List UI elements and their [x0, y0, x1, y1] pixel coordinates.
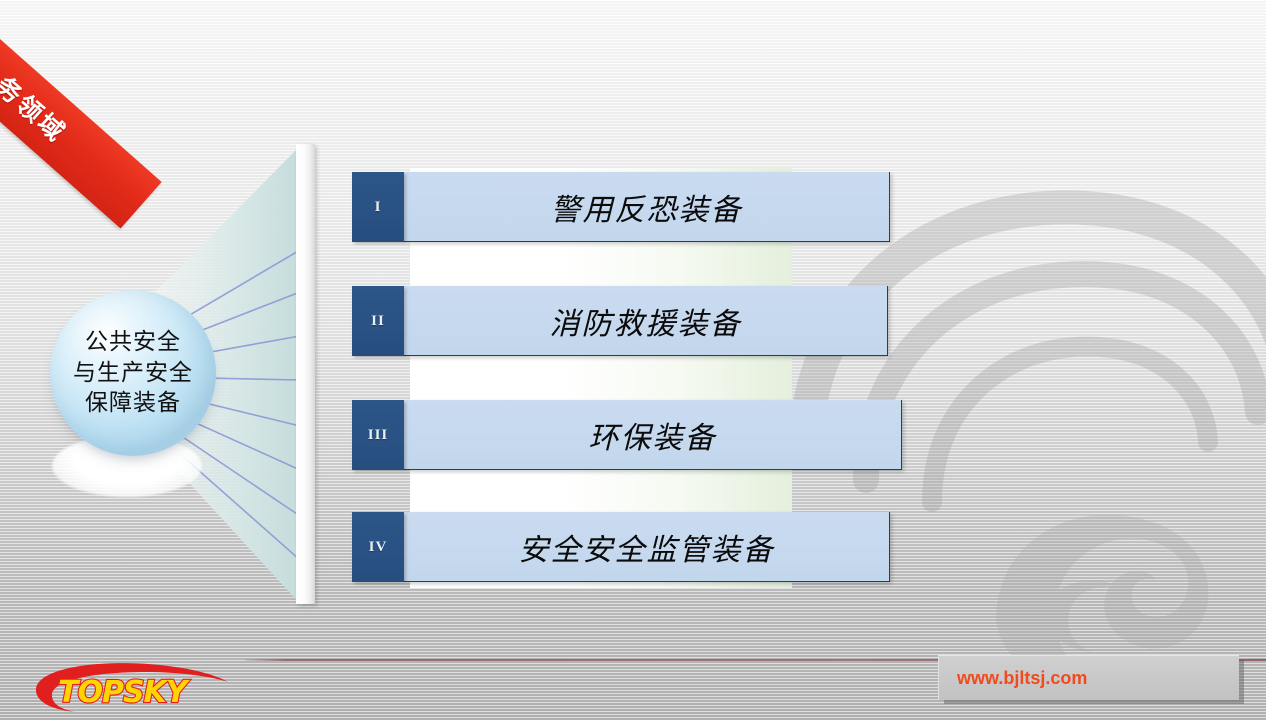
item-numeral-box: IV — [352, 512, 404, 582]
website-url-text: www.bjltsj.com — [957, 668, 1087, 689]
item-numeral: I — [375, 199, 382, 216]
item-numeral-box: III — [352, 400, 404, 470]
item-numeral: III — [368, 427, 389, 444]
list-item[interactable]: I 警用反恐装备 — [352, 172, 890, 242]
item-label: 安全安全监管装备 — [519, 525, 775, 569]
item-bar[interactable]: 环保装备 — [404, 400, 902, 470]
corner-ribbon-label: 业务领域 — [0, 49, 75, 150]
panel-edge — [296, 144, 315, 604]
item-bar[interactable]: 消防救援装备 — [404, 286, 888, 356]
hub-sphere[interactable]: 公共安全 与生产安全 保障装备 — [50, 290, 216, 456]
list-item[interactable]: IV 安全安全监管装备 — [352, 512, 890, 582]
item-numeral: IV — [369, 539, 388, 556]
list-item[interactable]: II 消防救援装备 — [352, 286, 888, 356]
item-label: 环保装备 — [589, 413, 717, 457]
list-item[interactable]: III 环保装备 — [352, 400, 902, 470]
item-bar[interactable]: 警用反恐装备 — [404, 172, 890, 242]
item-label: 消防救援装备 — [550, 299, 742, 343]
hub-sphere-label: 公共安全 与生产安全 保障装备 — [73, 327, 193, 419]
website-url-box[interactable]: www.bjltsj.com — [938, 655, 1239, 700]
item-bar[interactable]: 安全安全监管装备 — [404, 512, 890, 582]
topsky-logo-text: TOPSKY — [58, 675, 191, 710]
item-numeral-box: I — [352, 172, 404, 242]
item-numeral: II — [371, 313, 385, 330]
topsky-logo[interactable]: TOPSKY — [28, 660, 238, 712]
item-numeral-box: II — [352, 286, 404, 356]
slide-canvas: 业务领域 — [0, 0, 1266, 720]
item-label: 警用反恐装备 — [551, 185, 743, 229]
